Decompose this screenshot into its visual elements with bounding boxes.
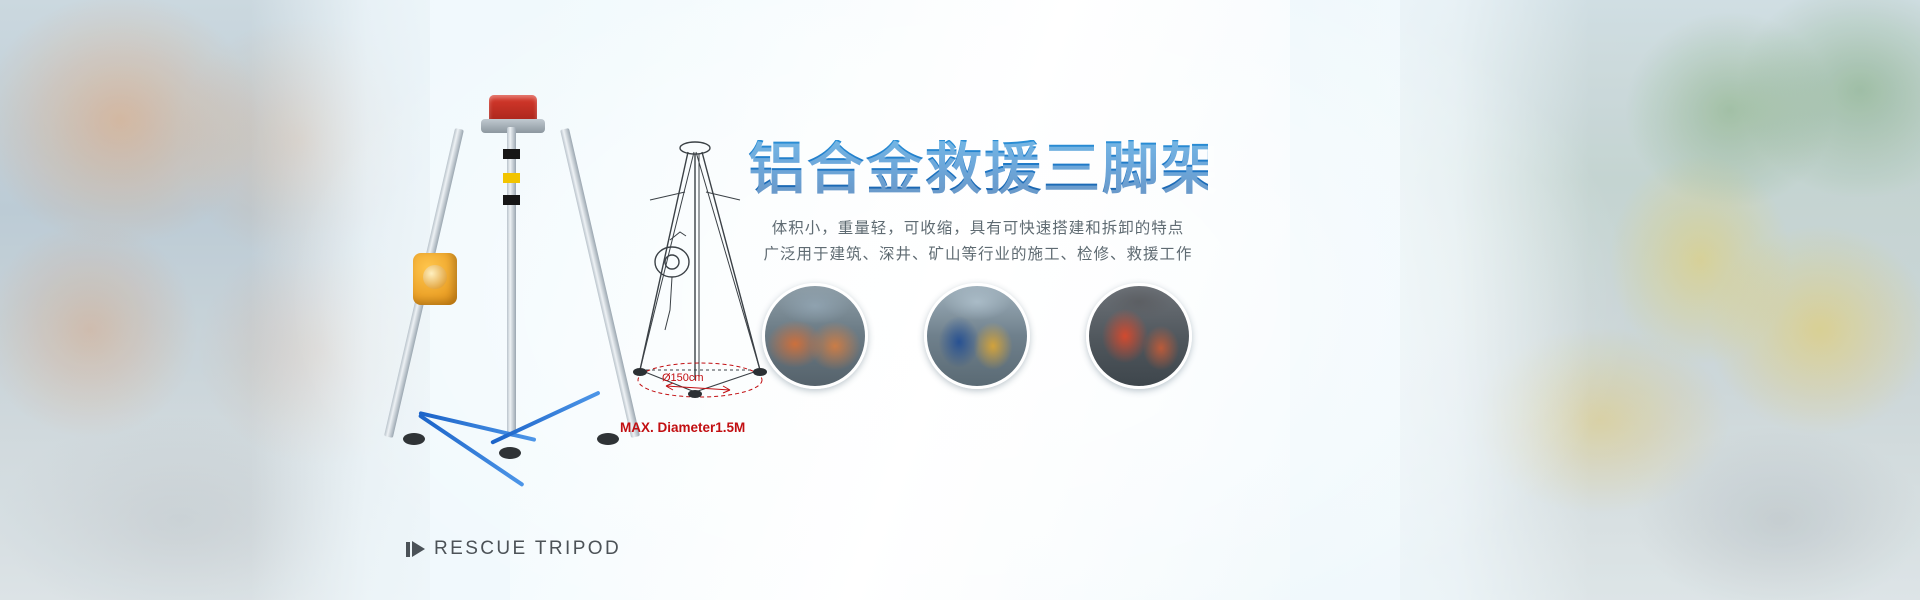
product-photo-tripod [395,95,630,465]
max-diameter-annotation: MAX. Diameter1.5M [620,420,745,435]
thumbnail-workers-equipment[interactable] [924,283,1030,389]
right-photo-backdrop [1400,0,1920,600]
thumbnail-confined-space-rescue[interactable] [1086,283,1192,389]
tripod-stripe-1 [503,149,520,159]
tripod-stripe-3 [503,195,520,205]
tripod-winch-drum [423,265,447,289]
left-photo-backdrop [0,0,430,600]
promotional-banner: Ø150cm MAX. Diameter1.5M 铝合金救援三脚架 体积小，重量… [0,0,1920,600]
thumbnail-row [762,283,1192,385]
subtitle-line-1: 体积小，重量轻，可收缩，具有可快速搭建和拆卸的特点 [748,216,1208,242]
thumbnail-rescue-team-site[interactable] [762,283,868,389]
diameter-annotation: Ø150cm [662,372,704,384]
product-label: RESCUE TRIPOD [406,538,621,560]
tripod-foot-right [597,433,619,445]
subtitle-block: 体积小，重量轻，可收缩，具有可快速搭建和拆卸的特点 广泛用于建筑、深井、矿山等行… [748,216,1208,268]
right-photo-fade [1290,0,1590,600]
tripod-foot-center [499,447,521,459]
headline-block: 铝合金救援三脚架 体积小，重量轻，可收缩，具有可快速搭建和拆卸的特点 广泛用于建… [748,140,1208,268]
play-triangle-icon [406,541,425,557]
tripod-stripe-2 [503,173,520,183]
tripod-foot-left [403,433,425,445]
page-title: 铝合金救援三脚架 [748,140,1208,200]
subtitle-line-2: 广泛用于建筑、深井、矿山等行业的施工、检修、救援工作 [748,242,1208,268]
product-label-text: RESCUE TRIPOD [434,538,621,560]
